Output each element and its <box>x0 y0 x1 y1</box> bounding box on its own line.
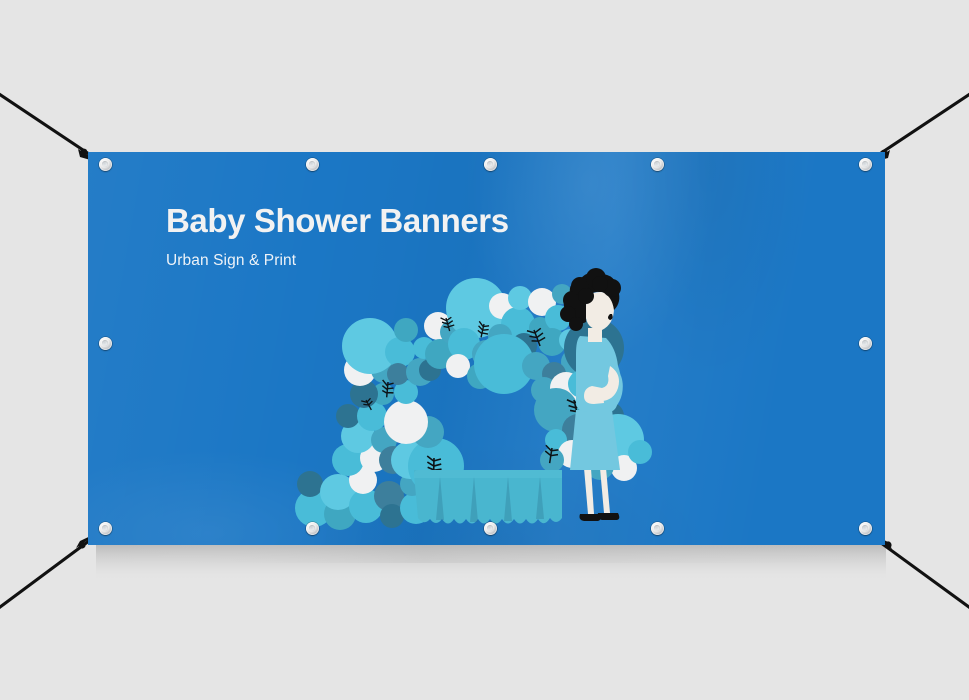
baby-shower-illustration <box>288 270 688 530</box>
grommet-right-mid <box>859 337 872 350</box>
banner-subtitle: Urban Sign & Print <box>166 252 509 270</box>
gift-table <box>414 466 562 524</box>
grommet-left-mid <box>99 337 112 350</box>
banner-side-shadow <box>120 545 880 563</box>
banner-scene: Baby Shower Banners Urban Sign & Print <box>0 0 969 700</box>
grommet-top-4 <box>651 158 664 171</box>
rope-top-left <box>0 92 101 163</box>
grommet-top-1 <box>99 158 112 171</box>
banner-text-block: Baby Shower Banners Urban Sign & Print <box>166 204 509 270</box>
page-title: Baby Shower Banners <box>166 204 509 239</box>
grommet-bottom-3 <box>484 522 497 535</box>
grommet-bottom-4 <box>651 522 664 535</box>
grommet-bottom-2 <box>306 522 319 535</box>
grommet-top-5 <box>859 158 872 171</box>
grommet-top-2 <box>306 158 319 171</box>
grommet-bottom-5 <box>859 522 872 535</box>
rope-bottom-left <box>0 531 101 610</box>
grommet-bottom-1 <box>99 522 112 535</box>
grommet-top-3 <box>484 158 497 171</box>
vinyl-banner[interactable]: Baby Shower Banners Urban Sign & Print <box>88 152 885 545</box>
balloon-arch-svg <box>288 270 688 530</box>
mockup-canvas: Baby Shower Banners Urban Sign & Print <box>0 0 969 700</box>
